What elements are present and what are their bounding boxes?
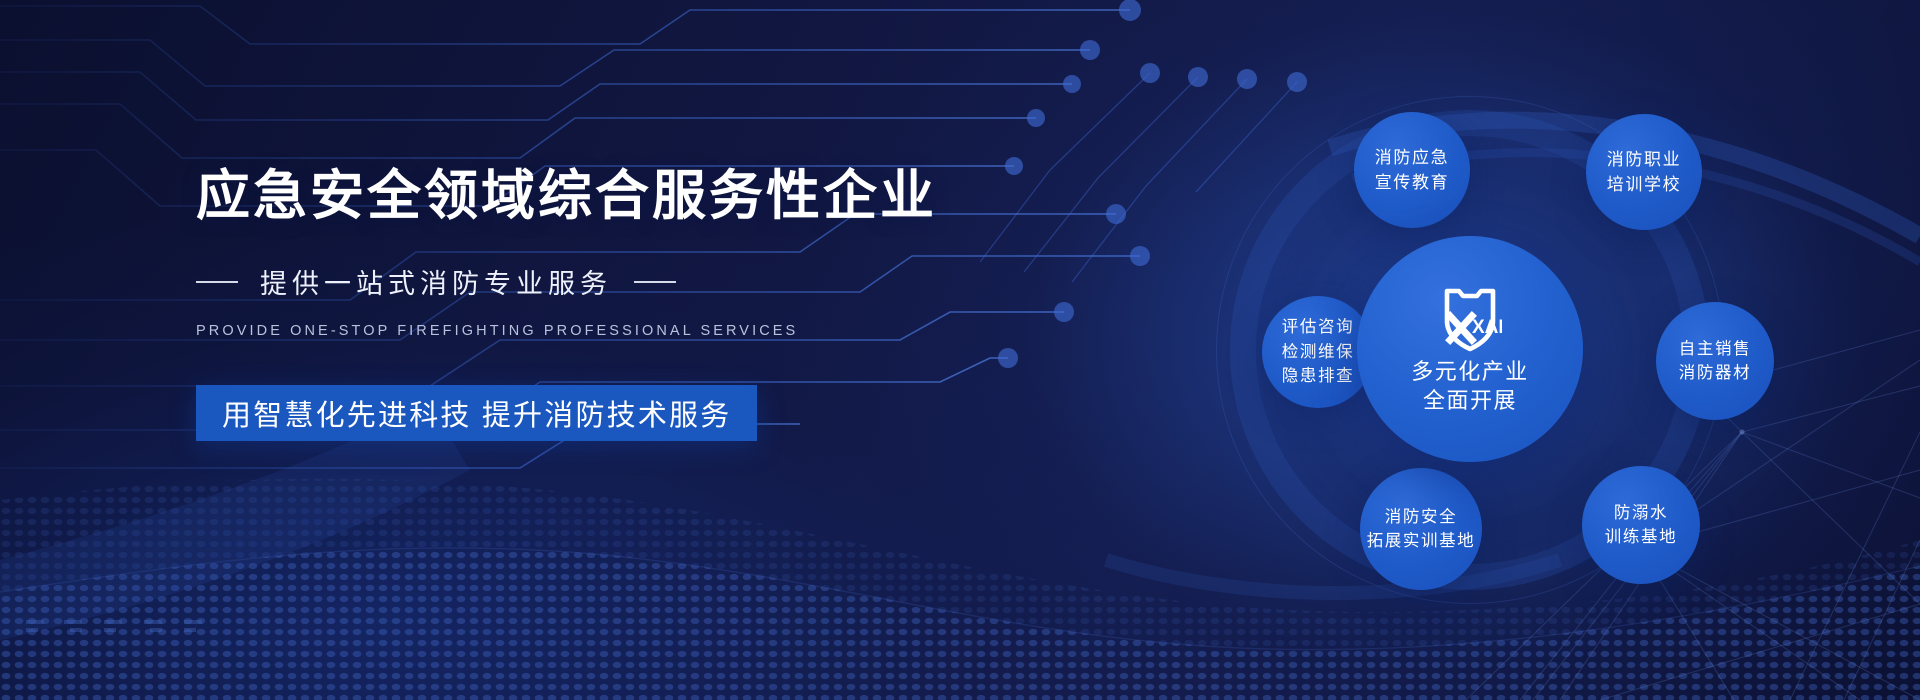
bubble-line-1: 防溺水 bbox=[1614, 501, 1668, 525]
bubble-line-2: 消防器材 bbox=[1679, 361, 1751, 385]
bubble-line-1: 评估咨询 bbox=[1282, 315, 1354, 340]
dash-left-icon bbox=[196, 281, 238, 283]
english-tagline: PROVIDE ONE-STOP FIREFIGHTING PROFESSION… bbox=[196, 323, 936, 339]
hero-banner: 应急安全领域综合服务性企业 提供一站式消防专业服务 PROVIDE ONE-ST… bbox=[0, 0, 1920, 700]
bracket-marks bbox=[26, 620, 202, 632]
bubble-safety-training-base[interactable]: 消防安全 拓展实训基地 bbox=[1360, 468, 1482, 590]
cta-button[interactable]: 用智慧化先进科技 提升消防技术服务 bbox=[196, 385, 757, 441]
page-title: 应急安全领域综合服务性企业 bbox=[196, 166, 936, 226]
bubble-vocational-training-school[interactable]: 消防职业 培训学校 bbox=[1586, 114, 1702, 230]
bubble-line-1: 消防职业 bbox=[1607, 147, 1681, 173]
bubble-fire-emergency-education[interactable]: 消防应急 宣传教育 bbox=[1354, 112, 1470, 228]
bubble-line-1: 消防安全 bbox=[1385, 505, 1457, 529]
center-circle-text: 多元化产业 全面开展 bbox=[1411, 358, 1529, 415]
cta-button-label: 用智慧化先进科技 提升消防技术服务 bbox=[222, 392, 731, 434]
shield-logo-icon: XAN bbox=[1438, 282, 1502, 352]
subheadline-row: 提供一站式消防专业服务 bbox=[196, 262, 936, 301]
bubble-line-2: 训练基地 bbox=[1605, 525, 1677, 549]
svg-text:XAN: XAN bbox=[1472, 317, 1502, 338]
center-line-2: 全面开展 bbox=[1411, 387, 1529, 416]
bubble-line-2: 培训学校 bbox=[1607, 172, 1681, 198]
bubble-line-1: 消防应急 bbox=[1375, 145, 1449, 171]
hero-copy: 应急安全领域综合服务性企业 提供一站式消防专业服务 PROVIDE ONE-ST… bbox=[196, 166, 936, 441]
subheadline: 提供一站式消防专业服务 bbox=[260, 262, 612, 301]
bubble-line-2: 宣传教育 bbox=[1375, 170, 1449, 196]
bubble-anti-drowning-base[interactable]: 防溺水 训练基地 bbox=[1582, 466, 1700, 584]
bubble-equipment-sales[interactable]: 自主销售 消防器材 bbox=[1656, 302, 1774, 420]
business-circle-diagram: 消防应急 宣传教育 消防职业 培训学校 评估咨询 检测维保 隐患排查 自主销售 … bbox=[1120, 70, 1840, 630]
bubble-line-2: 检测维保 bbox=[1282, 340, 1354, 365]
bubble-line-2: 拓展实训基地 bbox=[1367, 529, 1476, 553]
dash-right-icon bbox=[634, 281, 676, 283]
bubble-line-3: 隐患排查 bbox=[1282, 364, 1354, 389]
center-circle[interactable]: XAN 多元化产业 全面开展 bbox=[1357, 236, 1583, 462]
bubble-line-1: 自主销售 bbox=[1679, 337, 1751, 361]
center-line-1: 多元化产业 bbox=[1411, 358, 1529, 387]
